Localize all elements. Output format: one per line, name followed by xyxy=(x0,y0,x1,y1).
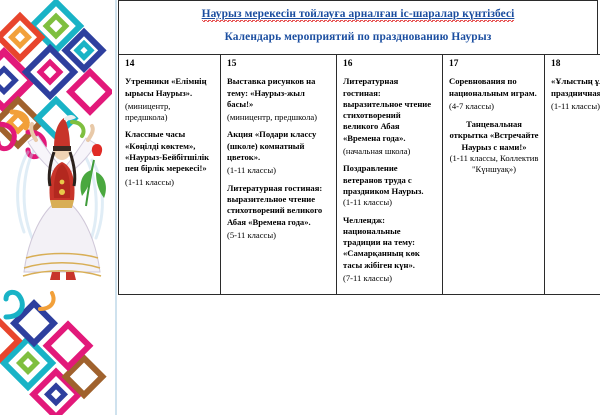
event-title: «Ұлыстың ұлы күні» - праздничная програм… xyxy=(551,76,600,99)
decorative-side-band xyxy=(0,0,118,415)
page-title-ru-text: Календарь мероприятий по празднованию На… xyxy=(225,31,492,43)
event-block: «Ұлыстың ұлы күні» - праздничная програм… xyxy=(551,76,600,112)
kazakh-dancer-illustration xyxy=(6,112,118,292)
event-audience: (4-7 классы) xyxy=(449,101,539,112)
event-title: Челлендж: национальные традиции на тему:… xyxy=(343,215,437,271)
day-number: 16 xyxy=(343,59,437,70)
event-title: Литературная гостиная: выразительное чте… xyxy=(227,183,331,228)
document-page: Наурыз мерекесін тойлауға арналған іс-ша… xyxy=(0,0,600,415)
event-title: Танцевальная открытка «Встречайте Наурыз… xyxy=(449,119,539,153)
event-audience: (7-11 классы) xyxy=(343,273,437,284)
day-column-15: 15 Выставка рисунков на тему: «Наурыз-жы… xyxy=(221,55,337,295)
page-title-kk: Наурыз мерекесін тойлауға арналған іс-ша… xyxy=(119,6,597,22)
event-audience: (1-11 классы) xyxy=(551,101,600,112)
event-block: Утренники «Елімнің ырысы Наурыз». (миниц… xyxy=(125,76,215,123)
event-audience: (начальная школа) xyxy=(343,146,437,157)
event-title: Соревнования по национальным играм. xyxy=(449,76,539,99)
day-column-16: 16 Литературная гостиная: выразительное … xyxy=(337,55,443,295)
event-block: Выставка рисунков на тему: «Наурыз-жыл б… xyxy=(227,76,331,123)
event-audience: (1-11 классы, Коллектив "Күншуақ») xyxy=(449,153,539,176)
event-title: Классные часы «Көңілді көктем», «Наурыз-… xyxy=(125,129,215,174)
event-audience: (5-11 классы) xyxy=(227,230,331,241)
event-block: Литературная гостиная: выразительное чте… xyxy=(227,183,331,241)
events-table: 14 Утренники «Елімнің ырысы Наурыз». (ми… xyxy=(118,54,600,295)
title-box: Наурыз мерекесін тойлауға арналған іс-ша… xyxy=(118,0,598,54)
band-edge-line xyxy=(115,0,117,415)
page-title-ru: Календарь мероприятий по празднованию На… xyxy=(119,29,597,45)
calendar-sheet: Наурыз мерекесін тойлауға арналған іс-ша… xyxy=(118,0,598,409)
event-audience: (миницентр, предшкола) xyxy=(125,101,215,124)
day-number: 18 xyxy=(551,59,600,70)
event-block: Челлендж: национальные традиции на тему:… xyxy=(343,215,437,285)
event-block: Литературная гостиная: выразительное чте… xyxy=(343,76,437,157)
event-title: Утренники «Елімнің ырысы Наурыз». xyxy=(125,76,215,99)
event-block: Танцевальная открытка «Встречайте Наурыз… xyxy=(449,119,539,175)
event-audience: (1-11 классы) xyxy=(125,177,215,188)
event-block: Поздравление ветеранов труда с празднико… xyxy=(343,163,437,208)
page-title-kk-text: Наурыз мерекесін тойлауға арналған іс-ша… xyxy=(202,8,515,22)
day-column-18: 18 «Ұлыстың ұлы күні» - праздничная прог… xyxy=(545,55,600,295)
event-title: Акция «Подари классу (школе) комнатный ц… xyxy=(227,129,331,163)
kazakh-ornament-bottom xyxy=(0,281,112,415)
event-block: Соревнования по национальным играм. (4-7… xyxy=(449,76,539,112)
event-audience: (1-11 классы) xyxy=(343,197,437,208)
event-title: Литературная гостиная: выразительное чте… xyxy=(343,76,437,144)
day-number: 17 xyxy=(449,59,539,70)
event-block: Акция «Подари классу (школе) комнатный ц… xyxy=(227,129,331,176)
event-audience: (миницентр, предшкола) xyxy=(227,112,331,123)
day-number: 14 xyxy=(125,59,215,70)
event-block: Классные часы «Көңілді көктем», «Наурыз-… xyxy=(125,129,215,187)
day-number: 15 xyxy=(227,59,331,70)
event-title: Поздравление ветеранов труда с празднико… xyxy=(343,163,437,197)
day-column-17: 17 Соревнования по национальным играм. (… xyxy=(443,55,545,295)
table-row: 14 Утренники «Елімнің ырысы Наурыз». (ми… xyxy=(119,55,600,295)
day-column-14: 14 Утренники «Елімнің ырысы Наурыз». (ми… xyxy=(119,55,221,295)
event-audience: (1-11 классы) xyxy=(227,165,331,176)
event-title: Выставка рисунков на тему: «Наурыз-жыл б… xyxy=(227,76,331,110)
